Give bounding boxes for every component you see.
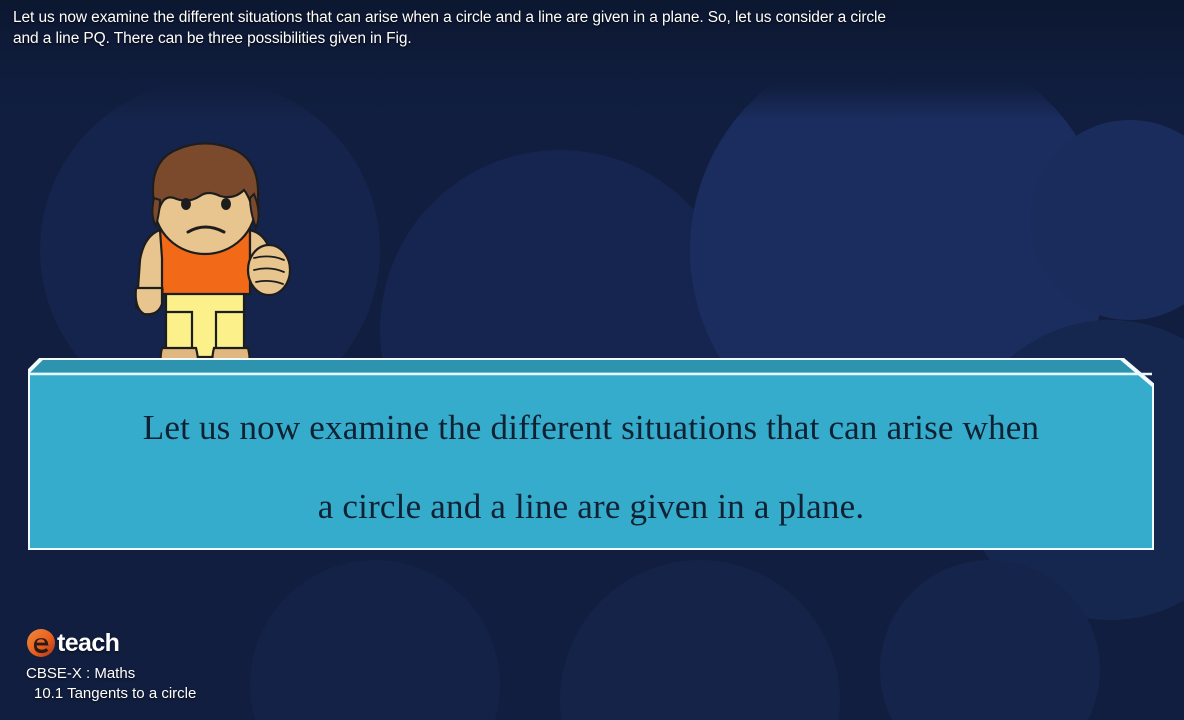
subtitle-line-2: and a line PQ. There can be three possib…: [13, 28, 1174, 49]
subtitle-line-1: Let us now examine the different situati…: [13, 9, 886, 26]
cartoon-boy-character: [104, 142, 304, 377]
banner-line-2: a circle and a line are given in a plane…: [64, 467, 1118, 546]
branding-block: teach CBSE-X : Maths 10.1 Tangents to a …: [26, 628, 196, 704]
eteach-e-icon: [26, 628, 56, 658]
banner-text-block: Let us now examine the different situati…: [28, 388, 1154, 546]
subtitle-caption: Let us now examine the different situati…: [0, 0, 1184, 57]
course-label: CBSE-X : Maths: [26, 664, 196, 684]
banner-line-1: Let us now examine the different situati…: [64, 388, 1118, 467]
video-frame: Let us now examine the different situati…: [0, 0, 1184, 720]
eteach-wordmark: teach: [57, 629, 119, 658]
background-circle: [250, 560, 500, 720]
main-content-banner: Let us now examine the different situati…: [28, 358, 1154, 550]
background-circle: [560, 560, 840, 720]
topic-label: 10.1 Tangents to a circle: [26, 684, 196, 704]
eteach-logo: teach: [26, 628, 196, 658]
